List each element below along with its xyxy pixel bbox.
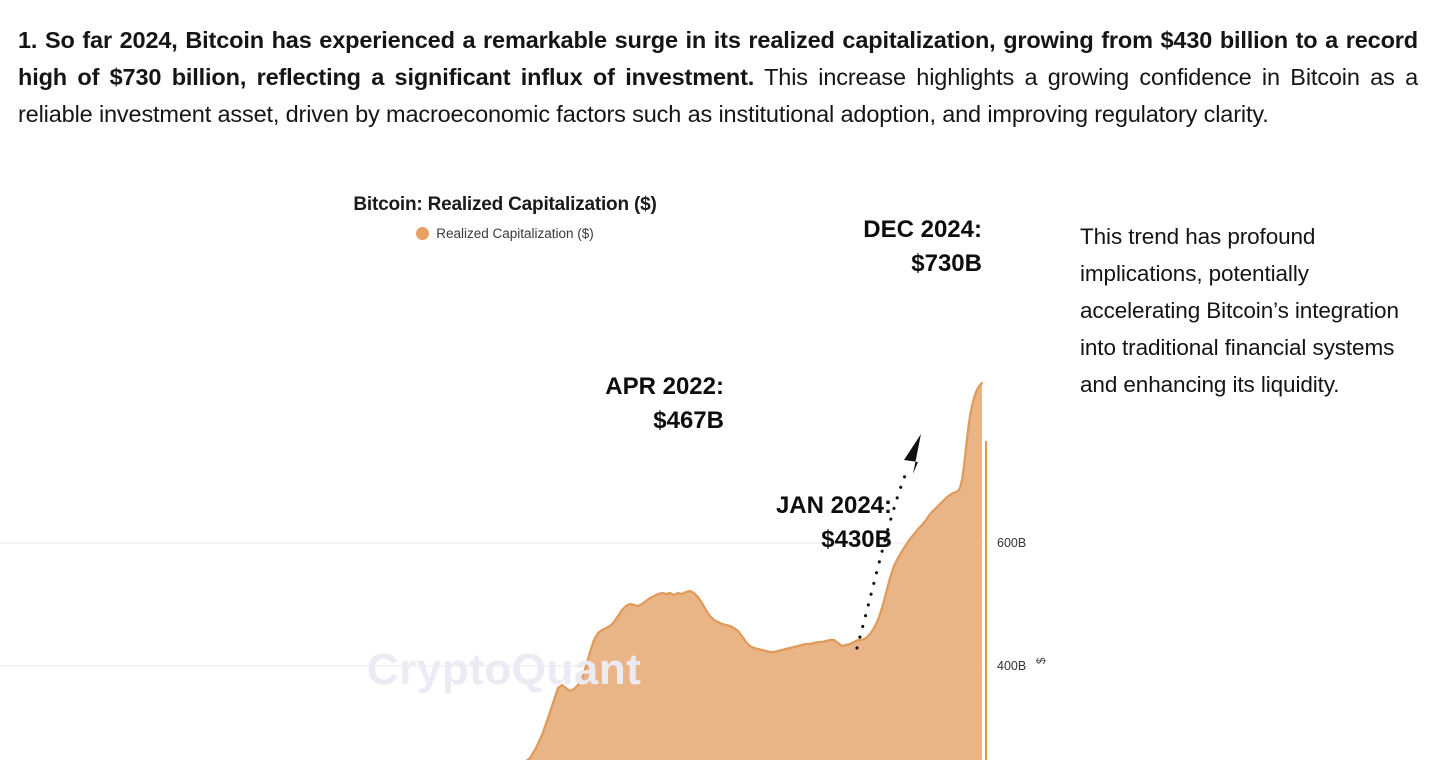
realized-cap-area — [6, 383, 982, 760]
annotation-dec-2024-line1: DEC 2024: — [786, 213, 982, 247]
legend-color-dot — [416, 227, 429, 240]
intro-paragraph: 1. So far 2024, Bitcoin has experienced … — [18, 22, 1418, 133]
annotation-jan-2024-line1: JAN 2024: — [696, 489, 892, 523]
annotation-apr-2022: APR 2022: $467B — [528, 370, 724, 438]
annotation-apr-2022-line2: $467B — [528, 404, 724, 438]
legend-series-label: Realized Capitalization ($) — [436, 226, 594, 241]
y-tick-400b: 400B — [997, 659, 1026, 673]
annotation-jan-2024-line2: $430B — [696, 523, 892, 557]
y-axis-line — [985, 441, 987, 760]
annotation-dec-2024-line2: $730B — [786, 247, 982, 281]
page-root: 1. So far 2024, Bitcoin has experienced … — [0, 0, 1447, 760]
annotation-dec-2024: DEC 2024: $730B — [786, 213, 982, 281]
y-axis-title: $ — [1036, 658, 1048, 664]
side-note-paragraph: This trend has profound implications, po… — [1080, 218, 1410, 403]
annotation-apr-2022-line1: APR 2022: — [528, 370, 724, 404]
y-tick-600b: 600B — [997, 536, 1026, 550]
annotation-jan-2024: JAN 2024: $430B — [696, 489, 892, 557]
